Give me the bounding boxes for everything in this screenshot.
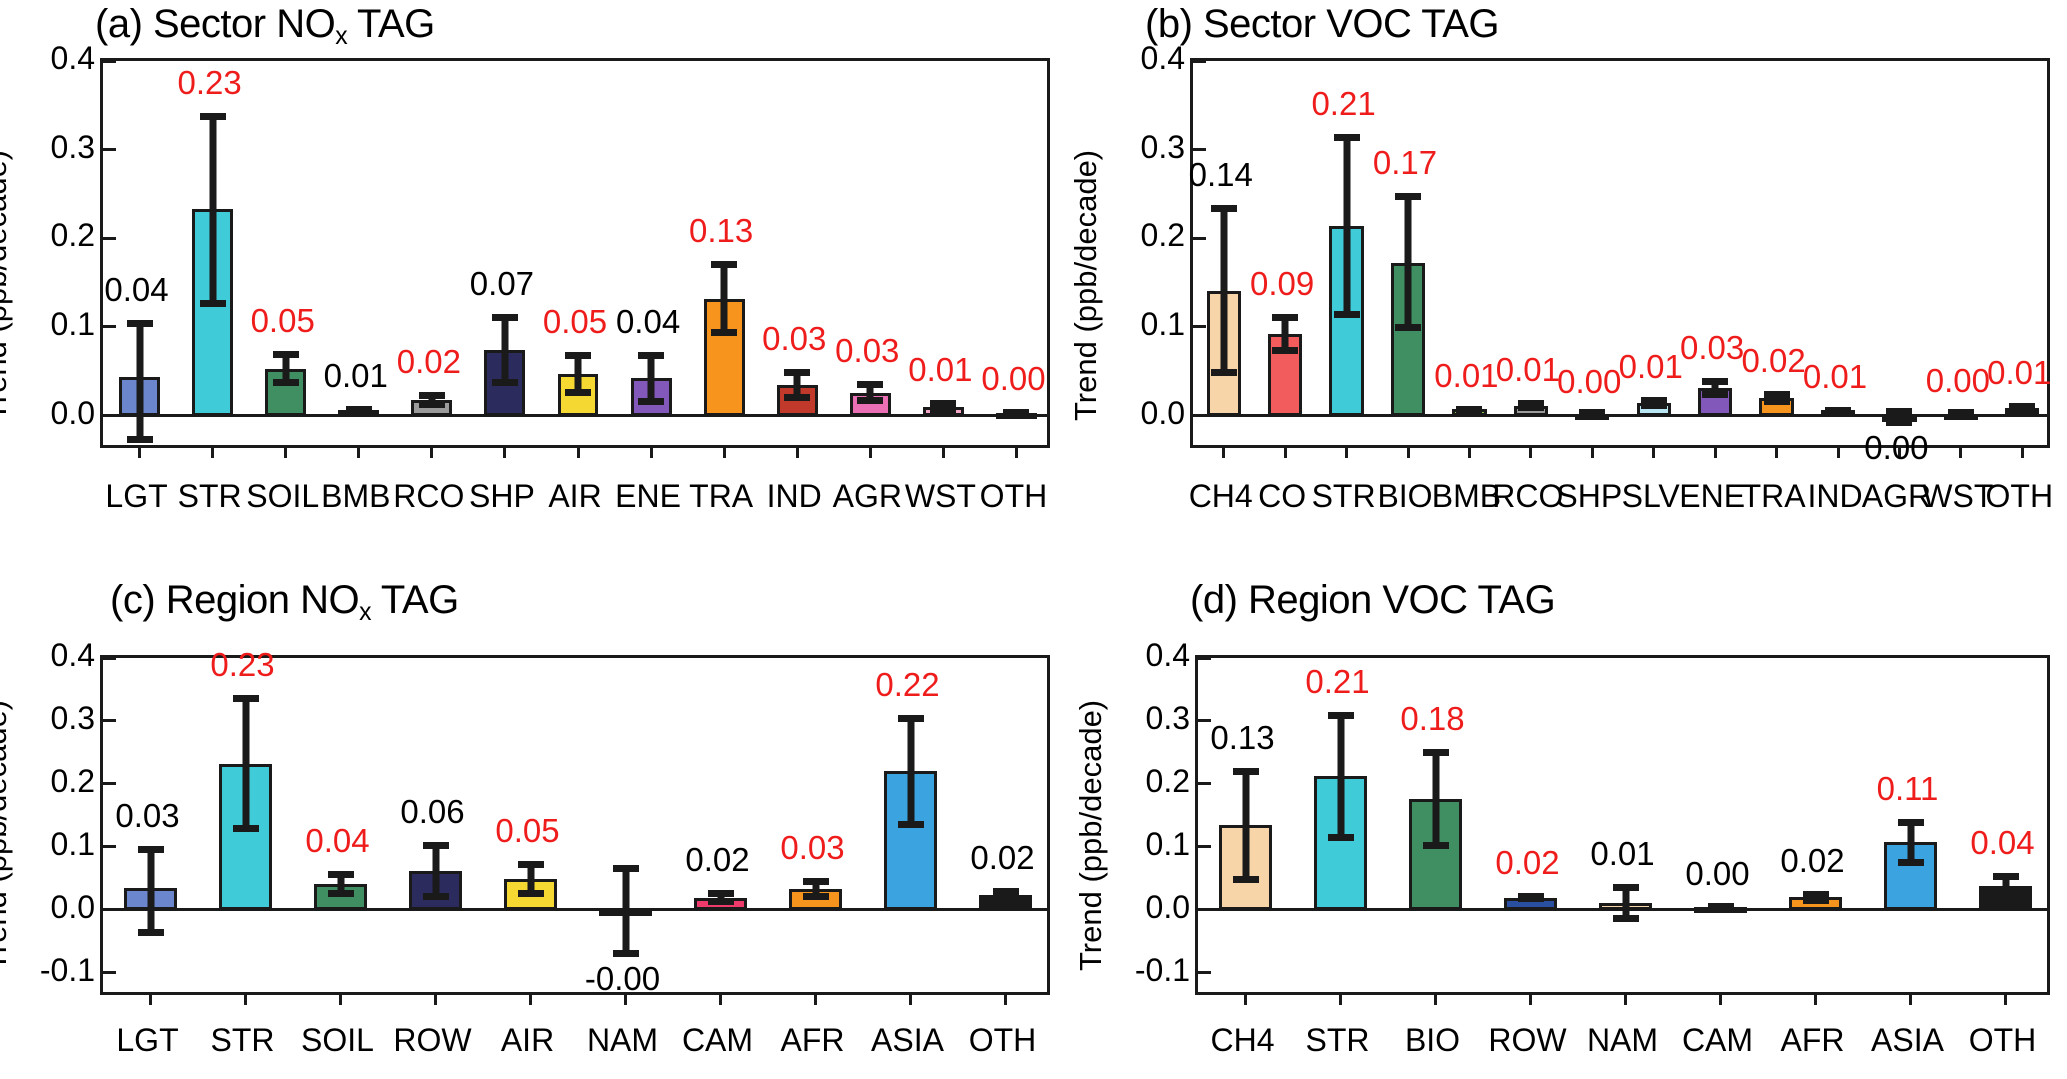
- y-tick-mark: [1198, 657, 1211, 660]
- x-axis-label-afr: AFR: [1781, 1022, 1845, 1059]
- x-axis-label-ch4: CH4: [1210, 1022, 1274, 1059]
- value-label-oth: 0.04: [1970, 824, 2034, 862]
- x-tick-mark: [1652, 445, 1655, 458]
- y-tick-label: 0.3: [51, 129, 95, 166]
- value-label-co: 0.09: [1250, 265, 1314, 303]
- x-tick-mark: [211, 445, 214, 458]
- x-axis-label-agr: AGR: [1862, 478, 1931, 515]
- x-tick-mark: [650, 445, 653, 458]
- value-label-bmb: 0.01: [324, 357, 388, 395]
- error-cap: [233, 825, 259, 832]
- value-label-shp: 0.00: [1557, 363, 1621, 401]
- y-tick-label: 0.4: [51, 40, 95, 77]
- y-tick-label: 0.3: [51, 700, 95, 737]
- error-cap: [2009, 405, 2035, 412]
- x-axis-label-rco: RCO: [1492, 478, 1563, 515]
- panel-a-plot-area: 0.00.10.20.30.4: [100, 58, 1050, 448]
- value-label-row: 0.06: [400, 793, 464, 831]
- error-cap: [423, 893, 449, 900]
- error-cap: [419, 392, 445, 399]
- x-axis-label-soil: SOIL: [301, 1022, 374, 1059]
- x-axis-label-soil: SOIL: [246, 478, 319, 515]
- y-tick-mark: [103, 325, 116, 328]
- value-label-nam: 0.01: [1590, 835, 1654, 873]
- x-axis-label-co: CO: [1258, 478, 1306, 515]
- error-cap: [1886, 419, 1912, 426]
- x-tick-mark: [149, 992, 152, 1005]
- y-tick-mark: [1193, 325, 1206, 328]
- y-tick-mark: [103, 657, 116, 660]
- y-tick-label: 0.1: [1141, 306, 1185, 343]
- error-cap: [1211, 205, 1237, 212]
- y-tick-mark: [1193, 60, 1206, 63]
- y-tick-label: 0.1: [51, 306, 95, 343]
- error-cap: [1803, 897, 1829, 904]
- y-tick-label: 0.1: [1146, 826, 1190, 863]
- x-axis-label-shp: SHP: [469, 478, 535, 515]
- x-tick-mark: [1775, 445, 1778, 458]
- error-cap: [1272, 347, 1298, 354]
- error-cap: [1764, 398, 1790, 405]
- value-label-oth: 0.02: [970, 839, 1034, 877]
- x-axis-label-bio: BIO: [1405, 1022, 1460, 1059]
- error-cap: [1518, 895, 1544, 902]
- panel-b-ylabel: Trend (ppb/decade): [1068, 150, 1104, 421]
- value-label-nam: -0.00: [585, 960, 660, 998]
- error-cap: [784, 369, 810, 376]
- error-cap: [1003, 409, 1029, 416]
- error-cap: [1993, 873, 2019, 880]
- x-tick-mark: [1004, 992, 1007, 1005]
- x-tick-mark: [244, 992, 247, 1005]
- error-cap: [1328, 712, 1354, 719]
- error-cap: [1518, 404, 1544, 411]
- value-label-afr: 0.03: [780, 829, 844, 867]
- error-cap: [857, 381, 883, 388]
- y-tick-label: 0.4: [1146, 637, 1190, 674]
- x-axis-label-ene: ENE: [1679, 478, 1745, 515]
- error-cap: [138, 929, 164, 936]
- x-axis-label-asia: ASIA: [871, 1022, 944, 1059]
- error-cap: [273, 379, 299, 386]
- x-axis-label-lgt: LGT: [116, 1022, 178, 1059]
- error-cap: [857, 397, 883, 404]
- value-label-soil: 0.04: [305, 822, 369, 860]
- error-cap: [328, 871, 354, 878]
- error-cap: [1423, 842, 1449, 849]
- value-label-str: 0.21: [1311, 85, 1375, 123]
- x-axis-label-cam: CAM: [682, 1022, 753, 1059]
- error-cap: [898, 715, 924, 722]
- error-bar-ch4: [1220, 205, 1227, 375]
- y-tick-label: 0.2: [51, 217, 95, 254]
- y-tick-mark: [1198, 845, 1211, 848]
- y-tick-label: 0.4: [51, 637, 95, 674]
- error-bar-asia: [907, 715, 914, 828]
- value-label-str: 0.23: [210, 646, 274, 684]
- x-axis-label-agr: AGR: [833, 478, 902, 515]
- error-bar-lgt: [136, 320, 143, 443]
- value-label-lgt: 0.04: [104, 271, 168, 309]
- value-label-ene: 0.04: [616, 303, 680, 341]
- zero-line: [1193, 414, 2047, 417]
- value-label-slv: 0.01: [1619, 348, 1683, 386]
- x-axis-label-ind: IND: [1807, 478, 1862, 515]
- value-label-bmb: 0.01: [1434, 357, 1498, 395]
- panel-c-title: (c) Region NOx TAG: [110, 578, 459, 627]
- x-tick-mark: [1591, 445, 1594, 458]
- error-cap: [233, 695, 259, 702]
- x-axis-label-str: STR: [211, 1022, 275, 1059]
- value-label-oth: 0.01: [1987, 354, 2051, 392]
- value-label-afr: 0.02: [1780, 842, 1844, 880]
- x-tick-mark: [1529, 992, 1532, 1005]
- panel-a-ylabel: Trend (ppb/decade): [0, 150, 14, 421]
- x-tick-mark: [430, 445, 433, 458]
- y-tick-mark: [1198, 782, 1211, 785]
- y-tick-mark: [103, 782, 116, 785]
- error-cap: [898, 821, 924, 828]
- x-tick-mark: [1468, 445, 1471, 458]
- x-tick-mark: [1909, 992, 1912, 1005]
- x-axis-label-str: STR: [1312, 478, 1376, 515]
- value-label-soil: 0.05: [251, 302, 315, 340]
- value-label-rco: 0.02: [397, 343, 461, 381]
- error-bar-str: [1337, 712, 1344, 842]
- y-tick-mark: [1193, 414, 1206, 417]
- x-axis-label-nam: NAM: [1587, 1022, 1658, 1059]
- x-axis-label-oth: OTH: [1986, 478, 2054, 515]
- error-cap: [708, 890, 734, 897]
- x-axis-label-rco: RCO: [393, 478, 464, 515]
- error-cap: [1328, 834, 1354, 841]
- x-tick-mark: [2004, 992, 2007, 1005]
- x-tick-mark: [1434, 992, 1437, 1005]
- error-cap: [1708, 903, 1734, 910]
- x-axis-label-air: AIR: [548, 478, 601, 515]
- y-tick-mark: [103, 60, 116, 63]
- x-tick-mark: [284, 445, 287, 458]
- panel-d-ylabel: Trend (ppb/decade): [1073, 700, 1109, 971]
- error-cap: [346, 408, 372, 415]
- x-tick-mark: [796, 445, 799, 458]
- error-bar-row: [432, 842, 439, 900]
- error-cap: [993, 888, 1019, 895]
- error-cap: [127, 320, 153, 327]
- error-cap: [423, 842, 449, 849]
- error-cap: [565, 389, 591, 396]
- x-axis-label-asia: ASIA: [1871, 1022, 1944, 1059]
- x-axis-label-ch4: CH4: [1189, 478, 1253, 515]
- error-cap: [127, 436, 153, 443]
- x-tick-mark: [357, 445, 360, 458]
- panel-d-title: (d) Region VOC TAG: [1190, 578, 1555, 627]
- error-cap: [711, 329, 737, 336]
- y-tick-mark: [103, 971, 116, 974]
- y-tick-label: 0.0: [51, 395, 95, 432]
- x-tick-mark: [1959, 445, 1962, 458]
- error-cap: [1456, 406, 1482, 413]
- value-label-lgt: 0.03: [115, 797, 179, 835]
- error-cap: [1395, 324, 1421, 331]
- error-cap: [1423, 749, 1449, 756]
- y-tick-label: -0.1: [40, 952, 95, 989]
- x-tick-mark: [1222, 445, 1225, 458]
- x-axis-label-slv: SLV: [1622, 478, 1680, 515]
- error-cap: [803, 893, 829, 900]
- y-tick-mark: [1198, 971, 1211, 974]
- x-axis-label-str: STR: [178, 478, 242, 515]
- x-axis-label-row: ROW: [1488, 1022, 1566, 1059]
- error-cap: [1702, 391, 1728, 398]
- error-cap: [638, 352, 664, 359]
- y-tick-label: 0.2: [1141, 217, 1185, 254]
- panel-a-title: (a) Sector NOx TAG: [95, 2, 435, 51]
- value-label-cam: 0.00: [1685, 855, 1749, 893]
- x-axis-label-oth: OTH: [980, 478, 1048, 515]
- value-label-cam: 0.02: [685, 841, 749, 879]
- x-tick-mark: [1714, 445, 1717, 458]
- y-tick-label: 0.3: [1141, 129, 1185, 166]
- x-tick-mark: [1284, 445, 1287, 458]
- x-axis-label-nam: NAM: [587, 1022, 658, 1059]
- y-tick-label: 0.0: [1146, 889, 1190, 926]
- error-cap: [1993, 892, 2019, 899]
- x-tick-mark: [1814, 992, 1817, 1005]
- error-bar-bio: [1405, 193, 1412, 331]
- value-label-tra: 0.13: [689, 212, 753, 250]
- x-tick-mark: [1339, 992, 1342, 1005]
- value-label-ch4: 0.13: [1210, 719, 1274, 757]
- error-cap: [492, 314, 518, 321]
- error-cap: [565, 352, 591, 359]
- y-tick-mark: [103, 908, 116, 911]
- error-cap: [138, 846, 164, 853]
- y-tick-label: 0.3: [1146, 700, 1190, 737]
- y-tick-mark: [1193, 148, 1206, 151]
- error-cap: [803, 878, 829, 885]
- x-tick-mark: [1529, 445, 1532, 458]
- y-tick-mark: [103, 237, 116, 240]
- error-cap: [273, 351, 299, 358]
- error-cap: [1233, 876, 1259, 883]
- x-axis-label-row: ROW: [393, 1022, 471, 1059]
- x-tick-mark: [434, 992, 437, 1005]
- x-tick-mark: [1345, 445, 1348, 458]
- x-axis-label-oth: OTH: [969, 1022, 1037, 1059]
- error-bar-str: [242, 695, 249, 832]
- x-tick-mark: [138, 445, 141, 458]
- error-cap: [613, 865, 639, 872]
- value-label-asia: 0.11: [1877, 770, 1939, 808]
- value-label-air: 0.05: [543, 303, 607, 341]
- error-cap: [930, 406, 956, 413]
- x-tick-mark: [577, 445, 580, 458]
- y-tick-label: 0.2: [1146, 763, 1190, 800]
- x-tick-mark: [339, 992, 342, 1005]
- error-bar-bio: [1432, 749, 1439, 848]
- x-axis-label-afr: AFR: [781, 1022, 845, 1059]
- value-label-shp: 0.07: [470, 265, 534, 303]
- error-cap: [1948, 409, 1974, 416]
- y-tick-mark: [103, 148, 116, 151]
- x-axis-label-tra: TRA: [1742, 478, 1806, 515]
- y-tick-mark: [103, 845, 116, 848]
- value-label-ind: 0.03: [762, 320, 826, 358]
- error-cap: [200, 113, 226, 120]
- value-label-str: 0.23: [177, 64, 241, 102]
- y-tick-label: 0.2: [51, 763, 95, 800]
- error-cap: [419, 401, 445, 408]
- x-tick-mark: [814, 992, 817, 1005]
- y-tick-mark: [103, 414, 116, 417]
- value-label-ch4: 0.14: [1189, 156, 1253, 194]
- x-axis-label-wst: WST: [905, 478, 976, 515]
- x-tick-mark: [1624, 992, 1627, 1005]
- error-cap: [1579, 409, 1605, 416]
- error-bar-ch4: [1242, 768, 1249, 884]
- error-cap: [200, 300, 226, 307]
- x-axis-label-ind: IND: [767, 478, 822, 515]
- x-tick-mark: [2021, 445, 2024, 458]
- error-bar-ene: [648, 352, 655, 405]
- y-tick-label: -0.1: [1135, 952, 1190, 989]
- panel-d-plot-area: -0.10.00.10.20.30.4: [1195, 655, 2050, 995]
- x-tick-mark: [1837, 445, 1840, 458]
- error-bar-shp: [501, 314, 508, 387]
- x-tick-mark: [1015, 445, 1018, 458]
- value-label-tra: 0.02: [1741, 342, 1805, 380]
- error-cap: [1898, 859, 1924, 866]
- x-axis-label-wst: WST: [1922, 478, 1993, 515]
- error-cap: [1233, 768, 1259, 775]
- error-bar-str: [1343, 134, 1350, 318]
- error-cap: [638, 398, 664, 405]
- value-label-str: 0.21: [1305, 663, 1369, 701]
- value-label-air: 0.05: [495, 812, 559, 850]
- error-bar-str: [209, 113, 216, 306]
- panel-b-title: (b) Sector VOC TAG: [1145, 2, 1499, 51]
- error-cap: [1272, 314, 1298, 321]
- error-cap: [784, 394, 810, 401]
- error-cap: [1702, 378, 1728, 385]
- x-tick-mark: [1244, 992, 1247, 1005]
- x-tick-mark: [1407, 445, 1410, 458]
- x-tick-mark: [723, 445, 726, 458]
- error-cap: [1613, 915, 1639, 922]
- x-axis-label-str: STR: [1306, 1022, 1370, 1059]
- error-cap: [1898, 819, 1924, 826]
- value-label-bio: 0.18: [1400, 700, 1464, 738]
- x-axis-label-shp: SHP: [1556, 478, 1622, 515]
- y-tick-label: 0.0: [1141, 395, 1185, 432]
- error-cap: [708, 898, 734, 905]
- x-tick-mark: [942, 445, 945, 458]
- y-tick-mark: [103, 719, 116, 722]
- value-label-agr: 0.03: [835, 332, 899, 370]
- x-axis-label-air: AIR: [501, 1022, 554, 1059]
- error-cap: [1641, 402, 1667, 409]
- x-tick-mark: [529, 992, 532, 1005]
- figure-root: (a) Sector NOx TAG Trend (ppb/decade) 0.…: [0, 0, 2067, 1079]
- x-axis-label-tra: TRA: [689, 478, 753, 515]
- value-label-bio: 0.17: [1373, 144, 1437, 182]
- x-tick-mark: [719, 992, 722, 1005]
- error-cap: [518, 890, 544, 897]
- error-cap: [518, 861, 544, 868]
- x-tick-mark: [909, 992, 912, 1005]
- x-axis-label-lgt: LGT: [105, 478, 167, 515]
- x-axis-label-cam: CAM: [1682, 1022, 1753, 1059]
- error-cap: [1613, 884, 1639, 891]
- x-axis-label-ene: ENE: [615, 478, 681, 515]
- error-bar-tra: [721, 261, 728, 335]
- error-cap: [1211, 369, 1237, 376]
- value-label-asia: 0.22: [875, 666, 939, 704]
- value-label-ind: 0.01: [1803, 358, 1867, 396]
- error-cap: [1825, 407, 1851, 414]
- x-axis-label-bio: BIO: [1377, 478, 1432, 515]
- error-cap: [1334, 134, 1360, 141]
- error-bar-lgt: [147, 846, 154, 935]
- value-label-agr: 0.00: [1864, 429, 1928, 467]
- x-tick-mark: [503, 445, 506, 458]
- error-cap: [328, 890, 354, 897]
- value-label-rco: 0.01: [1496, 351, 1560, 389]
- x-axis-label-bmb: BMB: [321, 478, 390, 515]
- y-tick-mark: [1193, 237, 1206, 240]
- y-tick-mark: [1198, 908, 1211, 911]
- value-label-wst: 0.00: [1926, 362, 1990, 400]
- error-cap: [1764, 391, 1790, 398]
- error-cap: [1886, 408, 1912, 415]
- error-cap: [492, 379, 518, 386]
- error-cap: [613, 950, 639, 957]
- error-cap: [1395, 193, 1421, 200]
- error-bar-nam: [622, 865, 629, 957]
- y-tick-label: 0.0: [51, 889, 95, 926]
- value-label-ene: 0.03: [1680, 329, 1744, 367]
- x-tick-mark: [869, 445, 872, 458]
- error-cap: [711, 261, 737, 268]
- y-tick-label: 0.4: [1141, 40, 1185, 77]
- x-tick-mark: [1719, 992, 1722, 1005]
- error-cap: [1334, 311, 1360, 318]
- x-axis-label-oth: OTH: [1969, 1022, 2037, 1059]
- error-cap: [993, 896, 1019, 903]
- value-label-wst: 0.01: [908, 351, 972, 389]
- y-tick-mark: [1198, 719, 1211, 722]
- x-axis-label-bmb: BMB: [1432, 478, 1501, 515]
- panel-c-ylabel: Trend (ppb/decade): [0, 700, 14, 971]
- value-label-row: 0.02: [1495, 844, 1559, 882]
- panel-c-plot-area: -0.10.00.10.20.30.4: [100, 655, 1050, 995]
- y-tick-label: 0.1: [51, 826, 95, 863]
- value-label-oth: 0.00: [981, 360, 1045, 398]
